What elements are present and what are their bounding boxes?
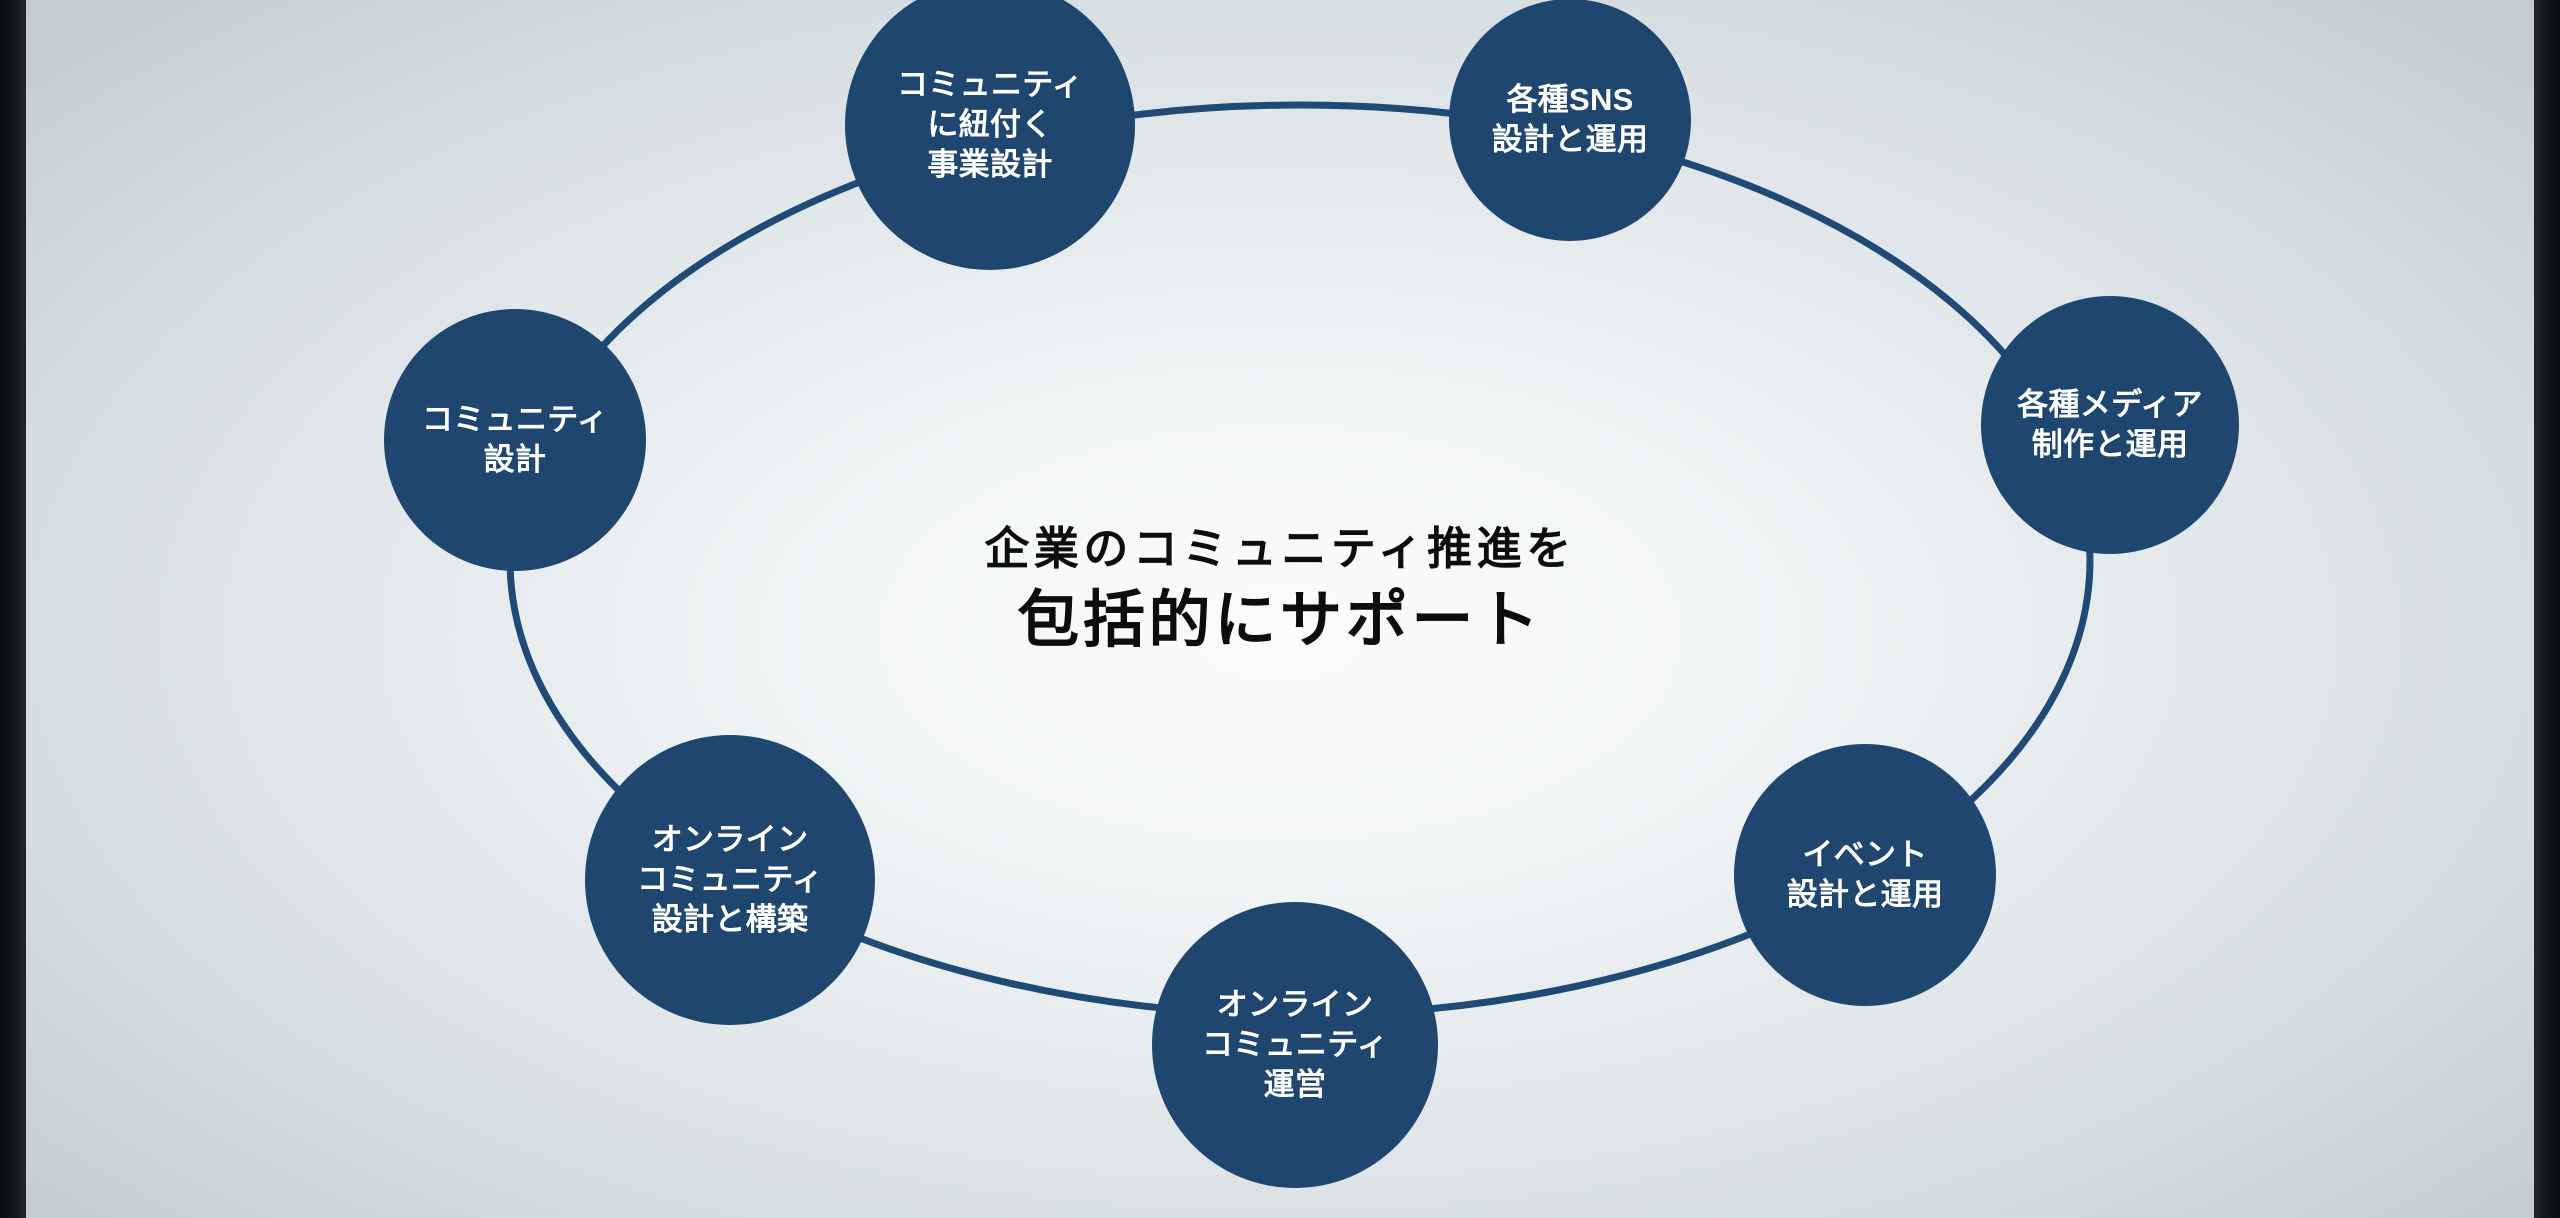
node-online-community-management[interactable]: オンライン コミュニティ 運営 xyxy=(1152,902,1438,1188)
node-label: 各種SNS 設計と運用 xyxy=(1492,80,1649,161)
node-label: 各種メディア 制作と運用 xyxy=(2017,385,2203,466)
node-label: コミュニティ に紐付く 事業設計 xyxy=(897,65,1083,186)
node-label: オンライン コミュニティ 運営 xyxy=(1202,985,1388,1106)
node-event-design-and-operation[interactable]: イベント 設計と運用 xyxy=(1734,744,1996,1006)
center-headline-line1: 企業のコミュニティ推進を xyxy=(984,522,1575,575)
node-online-community-design-and-build[interactable]: オンライン コミュニティ 設計と構築 xyxy=(585,735,875,1025)
node-label: コミュニティ 設計 xyxy=(422,400,608,481)
node-label: オンライン コミュニティ 設計と構築 xyxy=(637,820,823,941)
node-media-production-and-operation[interactable]: 各種メディア 制作と運用 xyxy=(1981,296,2239,554)
right-frame-bar xyxy=(2534,0,2560,1218)
node-community-design[interactable]: コミュニティ 設計 xyxy=(384,309,646,571)
left-frame-bar xyxy=(0,0,26,1218)
diagram-canvas: コミュニティ に紐付く 事業設計各種SNS 設計と運用各種メディア 制作と運用コ… xyxy=(0,0,2560,1218)
node-label: イベント 設計と運用 xyxy=(1787,835,1944,916)
center-headline: 企業のコミュニティ推進を 包括的にサポート xyxy=(760,490,1800,690)
center-headline-line2: 包括的にサポート xyxy=(1017,583,1543,659)
node-sns-design-and-operation[interactable]: 各種SNS 設計と運用 xyxy=(1449,0,1691,241)
